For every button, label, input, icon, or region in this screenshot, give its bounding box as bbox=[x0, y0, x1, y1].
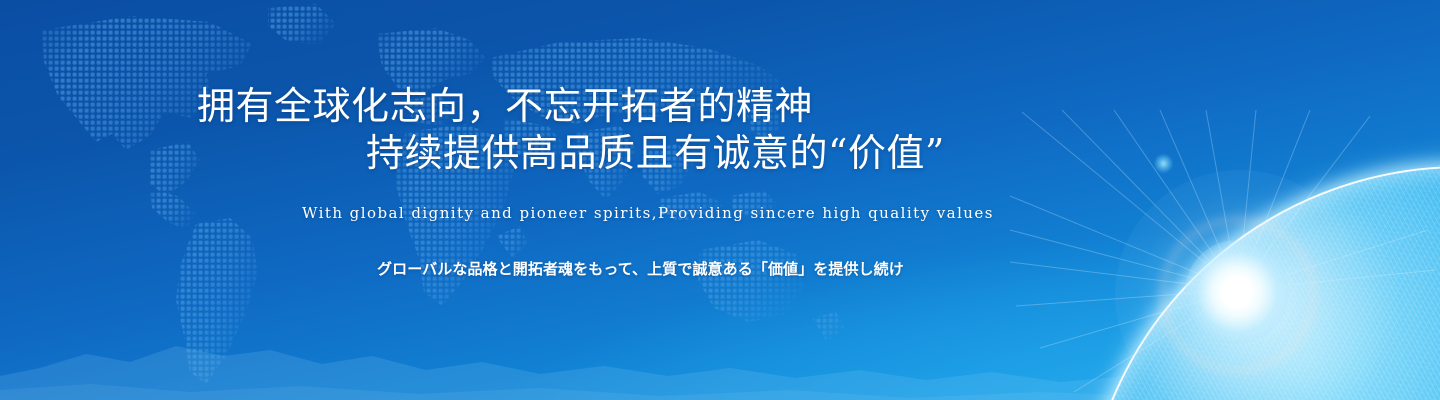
headline-line-1: 拥有全球化志向，不忘开拓者的精神 bbox=[0, 83, 1000, 130]
subtitle-english: With global dignity and pioneer spirits,… bbox=[302, 204, 994, 222]
subtitle-japanese: グローバルな品格と開拓者魂をもって、上質で誠意ある「価値」を提供し続け bbox=[377, 258, 904, 279]
page-title: 拥有全球化志向，不忘开拓者的精神 持续提供高品质且有诚意的“价值” bbox=[0, 83, 1000, 177]
philosophy-banner: 拥有全球化志向，不忘开拓者的精神 持续提供高品质且有诚意的“价值” With g… bbox=[0, 0, 1440, 400]
banner-copy: 拥有全球化志向，不忘开拓者的精神 持续提供高品质且有诚意的“价值” With g… bbox=[0, 0, 1000, 400]
lens-flare-orb bbox=[1155, 155, 1172, 172]
sun-lens-flare bbox=[1185, 240, 1289, 344]
headline-line-2: 持续提供高品质且有诚意的“价值” bbox=[0, 130, 1000, 177]
